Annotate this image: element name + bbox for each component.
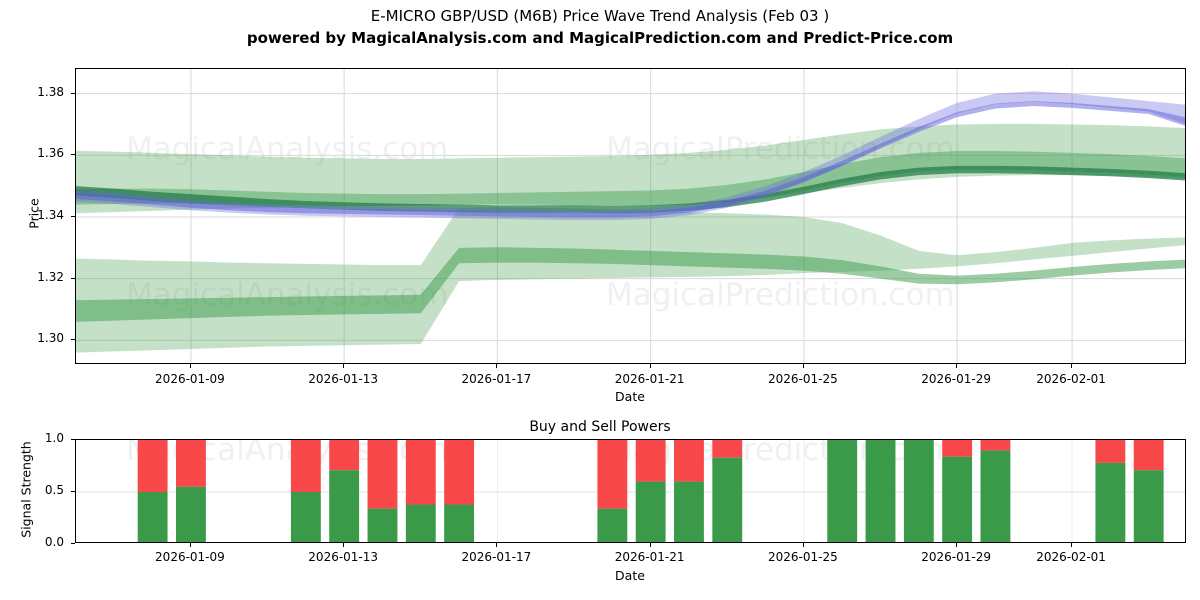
signal-y-tick-label: 0.0 [8, 535, 64, 549]
signal-bar [1095, 440, 1125, 543]
buy-power-segment [597, 509, 627, 543]
sell-power-segment [138, 440, 168, 492]
price-y-tickmark [71, 93, 75, 94]
signal-bar [904, 440, 934, 543]
buy-power-segment [444, 504, 474, 543]
price-x-tickmark [1071, 364, 1072, 368]
signal-y-axis-label: Signal Strength [19, 420, 34, 560]
buy-power-segment [368, 509, 398, 543]
signal-x-tick-label: 2026-01-21 [595, 550, 705, 564]
signal-y-tickmark [71, 543, 75, 544]
signal-bar [942, 440, 972, 543]
price-x-tick-label: 2026-01-13 [288, 372, 398, 386]
buy-power-segment [904, 440, 934, 543]
price-y-tickmark [71, 216, 75, 217]
buy-power-segment [329, 470, 359, 543]
signal-x-tickmark [496, 543, 497, 547]
signal-y-tickmark [71, 439, 75, 440]
sell-power-segment [368, 440, 398, 509]
buy-power-segment [291, 492, 321, 543]
sell-power-segment [674, 440, 704, 482]
buy-power-segment [1134, 470, 1164, 543]
buy-power-segment [636, 482, 666, 543]
price-x-tick-label: 2026-01-29 [901, 372, 1011, 386]
signal-bar [1134, 440, 1164, 543]
signal-bar [329, 440, 359, 543]
price-x-tick-label: 2026-01-09 [135, 372, 245, 386]
sell-power-segment [291, 440, 321, 492]
buy-power-segment [406, 504, 436, 543]
signal-bar [674, 440, 704, 543]
buy-power-segment [712, 458, 742, 543]
price-x-axis-label: Date [575, 389, 685, 404]
signal-y-tickmark [71, 491, 75, 492]
price-y-tickmark [71, 339, 75, 340]
sell-power-segment [942, 440, 972, 457]
chart-title-block: E-MICRO GBP/USD (M6B) Price Wave Trend A… [0, 6, 1200, 50]
buy-power-segment [981, 450, 1011, 543]
price-x-tick-label: 2026-01-17 [441, 372, 551, 386]
signal-bar [981, 440, 1011, 543]
signal-plot-frame: MagicalAnalysis.com MagicalPrediction.co… [75, 439, 1186, 543]
page-subtitle: powered by MagicalAnalysis.com and Magic… [0, 28, 1200, 50]
signal-x-tick-label: 2026-02-01 [1016, 550, 1126, 564]
signal-x-tickmark [190, 543, 191, 547]
signal-x-tickmark [343, 543, 344, 547]
price-x-tickmark [956, 364, 957, 368]
sell-power-segment [1134, 440, 1164, 470]
price-y-axis-label: Price [27, 174, 42, 254]
price-y-tick-label: 1.36 [8, 146, 64, 160]
sell-power-segment [176, 440, 206, 487]
buy-power-segment [674, 482, 704, 543]
signal-bar [636, 440, 666, 543]
price-x-tick-label: 2026-01-25 [748, 372, 858, 386]
signal-chart-title: Buy and Sell Powers [0, 419, 1200, 435]
price-y-tick-label: 1.32 [8, 270, 64, 284]
signal-x-axis-label: Date [575, 568, 685, 583]
buy-power-segment [866, 440, 896, 543]
sell-power-segment [712, 440, 742, 458]
page-title: E-MICRO GBP/USD (M6B) Price Wave Trend A… [0, 6, 1200, 28]
signal-y-tick-label: 0.5 [8, 483, 64, 497]
price-y-tick-label: 1.30 [8, 331, 64, 345]
signal-x-tick-label: 2026-01-29 [901, 550, 1011, 564]
price-plot-frame: MagicalAnalysis.com MagicalPrediction.co… [75, 68, 1186, 364]
sell-power-segment [329, 440, 359, 470]
signal-bar [291, 440, 321, 543]
buy-power-segment [1095, 463, 1125, 543]
signal-x-tick-label: 2026-01-17 [441, 550, 551, 564]
price-wave-chart-panel: MagicalAnalysis.com MagicalPrediction.co… [75, 68, 1186, 364]
sell-power-segment [636, 440, 666, 482]
buy-power-segment [138, 492, 168, 543]
signal-bar [597, 440, 627, 543]
buy-power-segment [942, 457, 972, 543]
signal-x-tickmark [956, 543, 957, 547]
price-x-tickmark [343, 364, 344, 368]
buy-power-segment [176, 487, 206, 543]
sell-power-segment [981, 440, 1011, 450]
signal-x-tickmark [803, 543, 804, 547]
sell-power-segment [597, 440, 627, 509]
signal-bar [176, 440, 206, 543]
price-x-tickmark [650, 364, 651, 368]
signal-x-tick-label: 2026-01-13 [288, 550, 398, 564]
signal-x-tick-label: 2026-01-25 [748, 550, 858, 564]
price-y-tickmark [71, 278, 75, 279]
price-x-tickmark [803, 364, 804, 368]
signal-bar [138, 440, 168, 543]
signal-bar [406, 440, 436, 543]
price-x-tickmark [496, 364, 497, 368]
signal-bar [368, 440, 398, 543]
signal-x-tickmark [1071, 543, 1072, 547]
sell-power-segment [406, 440, 436, 504]
signal-bar [866, 440, 896, 543]
signal-x-tickmark [650, 543, 651, 547]
sell-power-segment [444, 440, 474, 504]
buy-sell-bars-svg [76, 440, 1186, 543]
price-x-tickmark [190, 364, 191, 368]
price-x-tick-label: 2026-02-01 [1016, 372, 1126, 386]
signal-bar [444, 440, 474, 543]
buy-power-segment [827, 440, 857, 543]
buy-sell-powers-panel: MagicalAnalysis.com MagicalPrediction.co… [75, 439, 1186, 543]
signal-bar [827, 440, 857, 543]
price-y-tick-label: 1.38 [8, 85, 64, 99]
price-wave-svg [76, 69, 1186, 364]
sell-power-segment [1095, 440, 1125, 463]
signal-bar [712, 440, 742, 543]
signal-x-tick-label: 2026-01-09 [135, 550, 245, 564]
price-y-tickmark [71, 154, 75, 155]
price-x-tick-label: 2026-01-21 [595, 372, 705, 386]
signal-y-tick-label: 1.0 [8, 431, 64, 445]
